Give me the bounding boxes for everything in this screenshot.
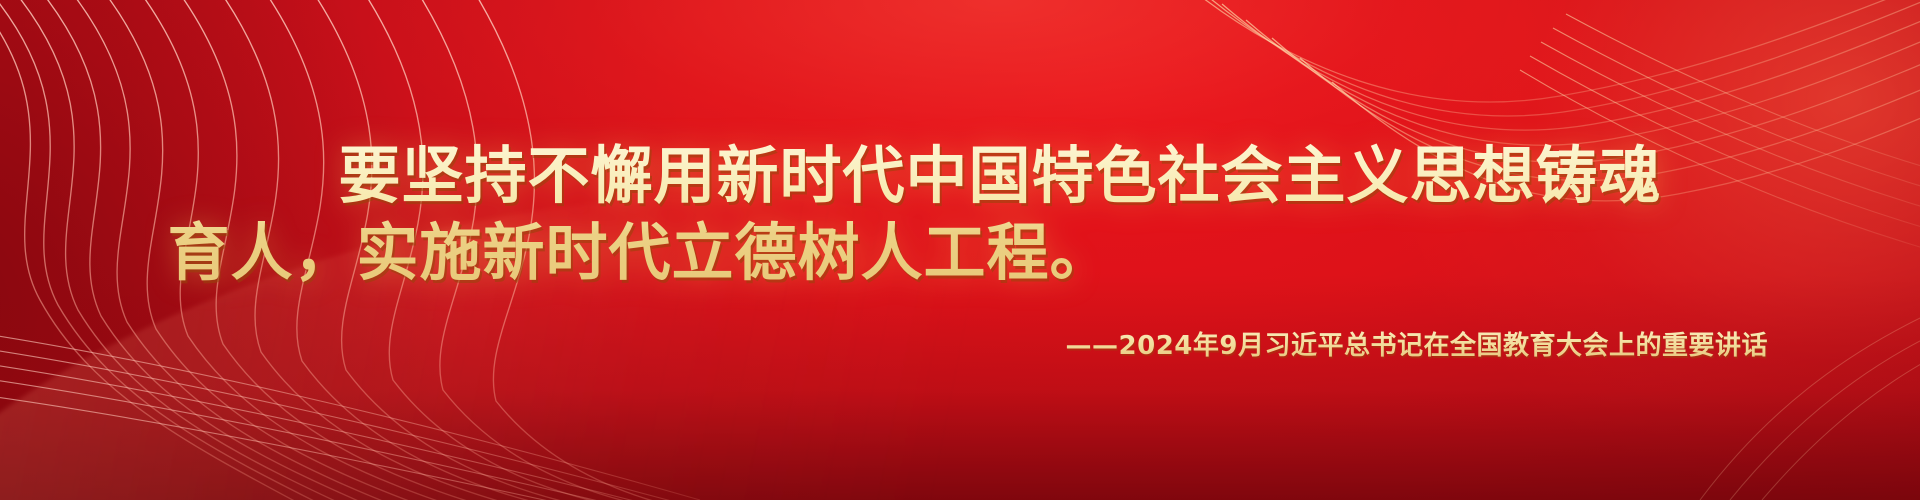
headline: 要坚持不懈用新时代中国特色社会主义思想铸魂 育人，实施新时代立德树人工程。 xyxy=(0,138,1920,292)
propaganda-banner: 要坚持不懈用新时代中国特色社会主义思想铸魂 育人，实施新时代立德树人工程。 ——… xyxy=(0,0,1920,500)
attribution-text: ——2024年9月习近平总书记在全国教育大会上的重要讲话 xyxy=(1066,325,1768,362)
headline-line-1: 要坚持不懈用新时代中国特色社会主义思想铸魂 xyxy=(0,138,1920,215)
attribution-row: ——2024年9月习近平总书记在全国教育大会上的重要讲话 xyxy=(0,325,1920,362)
headline-line-2: 育人，实施新时代立德树人工程。 xyxy=(0,215,1920,292)
banner-content: 要坚持不懈用新时代中国特色社会主义思想铸魂 育人，实施新时代立德树人工程。 ——… xyxy=(0,0,1920,500)
